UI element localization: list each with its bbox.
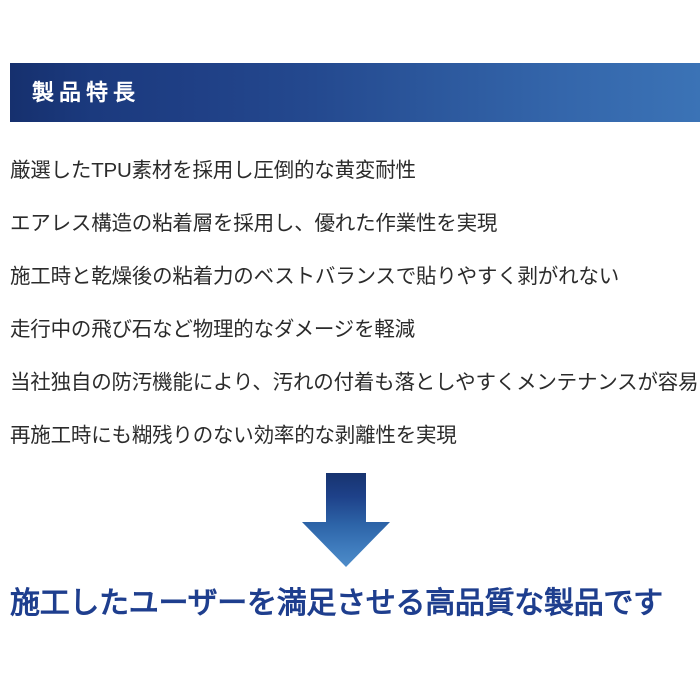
arrow-down-container (298, 470, 394, 570)
feature-item: 再施工時にも糊残りのない効率的な剥離性を実現 (10, 409, 694, 462)
feature-item: 当社独自の防汚機能により、汚れの付着も落としやすくメンテナンスが容易 (10, 356, 694, 409)
feature-item: 走行中の飛び石など物理的なダメージを軽減 (10, 303, 694, 356)
section-header-title: 製品特長 (32, 82, 140, 104)
conclusion-headline: 施工したユーザーを満足させる高品質な製品です (10, 580, 700, 628)
section-header-bar: 製品特長 (10, 63, 700, 122)
arrow-down-icon (298, 470, 394, 570)
feature-item: 厳選したTPU素材を採用し圧倒的な黄変耐性 (10, 144, 694, 197)
feature-item: 施工時と乾燥後の粘着力のベストバランスで貼りやすく剥がれない (10, 250, 694, 303)
feature-item: エアレス構造の粘着層を採用し、優れた作業性を実現 (10, 197, 694, 250)
product-features-panel: 製品特長 厳選したTPU素材を採用し圧倒的な黄変耐性 エアレス構造の粘着層を採用… (0, 0, 700, 700)
feature-list: 厳選したTPU素材を採用し圧倒的な黄変耐性 エアレス構造の粘着層を採用し、優れた… (10, 144, 694, 462)
